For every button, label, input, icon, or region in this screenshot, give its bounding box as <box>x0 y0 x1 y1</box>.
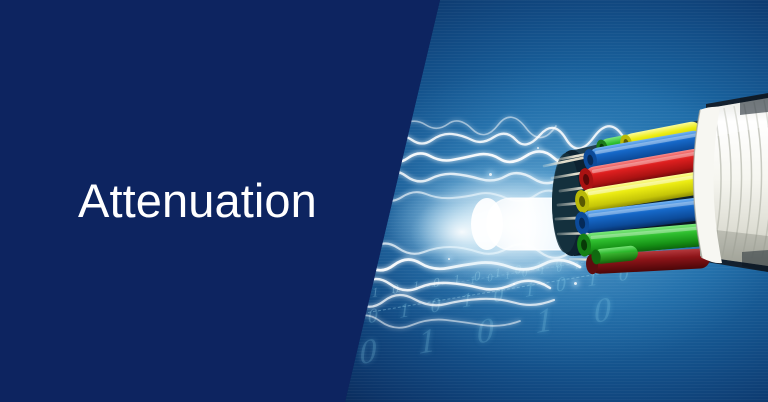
page-title: Attenuation <box>78 176 317 225</box>
hero-banner: 1 0 1 0 1 0 1 0 1 0 1 0 1 0 1 0 1 0 0 1 … <box>0 0 768 402</box>
